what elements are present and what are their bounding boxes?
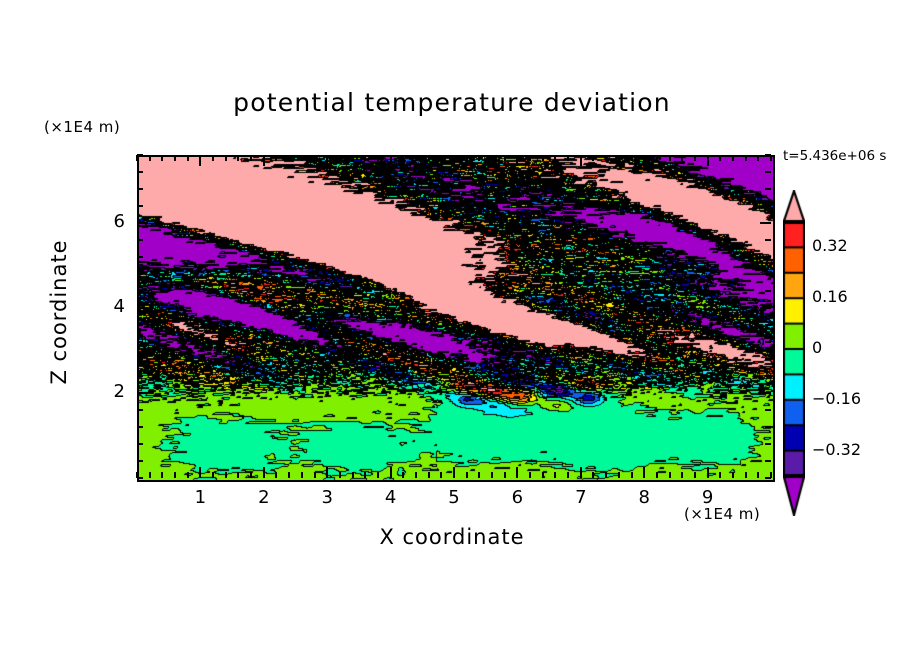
y-minor-tick-right [765, 290, 771, 292]
x-minor-tick-top [631, 155, 633, 161]
x-minor-tick [605, 472, 607, 478]
x-minor-tick [732, 472, 734, 478]
x-minor-tick-top [314, 155, 316, 161]
x-major-tick-top [643, 155, 645, 166]
contour-plot-area [137, 155, 775, 482]
y-minor-tick [137, 188, 143, 190]
x-minor-tick [618, 472, 620, 478]
x-minor-tick-top [237, 155, 239, 161]
x-minor-tick-top [592, 155, 594, 161]
x-minor-tick [592, 472, 594, 478]
x-minor-tick [402, 472, 404, 478]
x-minor-tick-top [352, 155, 354, 161]
x-minor-tick-top [161, 155, 163, 161]
x-minor-tick-top [656, 155, 658, 161]
y-tick-label: 4 [85, 296, 125, 317]
y-minor-tick-right [765, 375, 771, 377]
y-minor-tick [137, 460, 143, 462]
x-minor-tick [250, 472, 252, 478]
x-minor-tick [478, 472, 480, 478]
x-minor-tick-top [745, 155, 747, 161]
x-minor-tick [377, 472, 379, 478]
x-minor-tick-top [542, 155, 544, 161]
x-minor-tick [491, 472, 493, 478]
x-minor-tick-top [402, 155, 404, 161]
x-major-tick-top [199, 155, 201, 166]
x-minor-tick [694, 472, 696, 478]
colorbar-tick-label: −0.16 [812, 389, 861, 408]
y-minor-tick [137, 409, 143, 411]
y-minor-tick [137, 273, 143, 275]
y-minor-tick [137, 358, 143, 360]
x-tick-label: 9 [688, 487, 728, 508]
x-minor-tick-top [377, 155, 379, 161]
x-major-tick [390, 467, 392, 478]
x-minor-tick-top [187, 155, 189, 161]
x-minor-tick-top [250, 155, 252, 161]
y-minor-tick-right [765, 171, 771, 173]
y-minor-tick [137, 154, 143, 156]
y-minor-tick-right [765, 239, 771, 241]
x-minor-tick [669, 472, 671, 478]
x-minor-tick [301, 472, 303, 478]
x-minor-tick [656, 472, 658, 478]
y-axis-label: Z coordinate [47, 232, 71, 392]
x-minor-tick [314, 472, 316, 478]
x-minor-tick [288, 472, 290, 478]
x-tick-label: 6 [497, 487, 537, 508]
x-minor-tick-top [732, 155, 734, 161]
x-minor-tick-top [669, 155, 671, 161]
x-minor-tick [225, 472, 227, 478]
y-minor-tick-right [765, 256, 771, 258]
x-minor-tick-top [567, 155, 569, 161]
x-minor-tick [466, 472, 468, 478]
x-major-tick [516, 467, 518, 478]
y-minor-tick [137, 426, 143, 428]
y-minor-tick [137, 341, 143, 343]
y-minor-tick-right [765, 324, 771, 326]
x-minor-tick-top [428, 155, 430, 161]
y-major-tick [137, 392, 148, 394]
y-major-tick [137, 307, 148, 309]
x-major-tick [453, 467, 455, 478]
colorbar-under-arrow [783, 476, 805, 516]
x-minor-tick [745, 472, 747, 478]
x-major-tick [326, 467, 328, 478]
x-minor-tick-top [466, 155, 468, 161]
y-minor-tick-right [765, 273, 771, 275]
x-minor-tick [719, 472, 721, 478]
y-minor-tick [137, 477, 143, 479]
x-minor-tick-top [757, 155, 759, 161]
y-minor-tick [137, 324, 143, 326]
x-minor-tick [149, 472, 151, 478]
x-minor-tick-top [440, 155, 442, 161]
x-major-tick-top [453, 155, 455, 166]
x-minor-tick [757, 472, 759, 478]
x-minor-tick-top [225, 155, 227, 161]
x-tick-label: 8 [624, 487, 664, 508]
y-minor-tick [137, 171, 143, 173]
y-minor-tick [137, 290, 143, 292]
x-major-tick-top [707, 155, 709, 166]
x-minor-tick-top [288, 155, 290, 161]
x-minor-tick [428, 472, 430, 478]
x-major-tick-top [516, 155, 518, 166]
x-major-tick-top [263, 155, 265, 166]
x-minor-tick [339, 472, 341, 478]
x-minor-tick-top [301, 155, 303, 161]
x-minor-tick [275, 472, 277, 478]
x-tick-label: 1 [180, 487, 220, 508]
x-minor-tick [567, 472, 569, 478]
x-major-tick-top [580, 155, 582, 166]
x-minor-tick-top [491, 155, 493, 161]
y-minor-tick [137, 239, 143, 241]
x-major-tick [643, 467, 645, 478]
colorbar-over-arrow [783, 190, 805, 222]
x-minor-tick [187, 472, 189, 478]
x-minor-tick-top [694, 155, 696, 161]
x-tick-label: 7 [561, 487, 601, 508]
y-major-tick [137, 222, 148, 224]
x-minor-tick [212, 472, 214, 478]
y-minor-tick-right [765, 154, 771, 156]
y-tick-label: 2 [85, 381, 125, 402]
x-minor-tick-top [339, 155, 341, 161]
y-minor-tick-right [765, 188, 771, 190]
x-major-tick [580, 467, 582, 478]
x-minor-tick-top [212, 155, 214, 161]
x-minor-tick-top [415, 155, 417, 161]
x-minor-tick [237, 472, 239, 478]
x-minor-tick-top [478, 155, 480, 161]
y-minor-tick-right [765, 205, 771, 207]
y-minor-tick-right [765, 341, 771, 343]
x-minor-tick [352, 472, 354, 478]
x-minor-tick-top [719, 155, 721, 161]
x-minor-tick-top [364, 155, 366, 161]
page-title: potential temperature deviation [0, 88, 904, 117]
x-minor-tick-top [605, 155, 607, 161]
y-minor-tick-right [765, 443, 771, 445]
colorbar-tick-label: −0.32 [812, 440, 861, 459]
y-major-tick-right [760, 222, 771, 224]
z-axis-unit-label: (×1E4 m) [44, 118, 120, 136]
x-minor-tick [174, 472, 176, 478]
x-minor-tick-top [681, 155, 683, 161]
x-minor-tick [681, 472, 683, 478]
x-tick-label: 2 [244, 487, 284, 508]
x-minor-tick-top [554, 155, 556, 161]
y-minor-tick [137, 443, 143, 445]
x-minor-tick [161, 472, 163, 478]
colorbar-tick-label: 0.32 [812, 236, 848, 255]
x-major-tick-top [390, 155, 392, 166]
y-minor-tick [137, 375, 143, 377]
x-minor-tick [415, 472, 417, 478]
x-minor-tick-top [174, 155, 176, 161]
y-minor-tick-right [765, 460, 771, 462]
y-minor-tick [137, 205, 143, 207]
y-tick-label: 6 [85, 211, 125, 232]
x-minor-tick-top [618, 155, 620, 161]
x-minor-tick-top [504, 155, 506, 161]
colorbar-tick-label: 0.16 [812, 287, 848, 306]
figure-canvas: potential temperature deviation (×1E4 m)… [0, 0, 904, 654]
x-minor-tick [542, 472, 544, 478]
x-minor-tick [440, 472, 442, 478]
y-minor-tick-right [765, 477, 771, 479]
y-minor-tick-right [765, 426, 771, 428]
x-tick-label: 3 [307, 487, 347, 508]
x-major-tick [199, 467, 201, 478]
y-minor-tick-right [765, 409, 771, 411]
x-major-tick-top [326, 155, 328, 166]
x-minor-tick [631, 472, 633, 478]
colorbar-tick-label: 0 [812, 338, 822, 357]
x-major-tick [263, 467, 265, 478]
colorbar-body [783, 222, 805, 476]
y-minor-tick-right [765, 358, 771, 360]
x-minor-tick-top [529, 155, 531, 161]
x-major-tick [707, 467, 709, 478]
timestamp-label: t=5.436e+06 s [783, 148, 886, 164]
y-minor-tick [137, 256, 143, 258]
contour-field [139, 157, 773, 480]
y-major-tick-right [760, 392, 771, 394]
x-tick-label: 4 [371, 487, 411, 508]
x-axis-label: X coordinate [0, 525, 904, 549]
y-major-tick-right [760, 307, 771, 309]
x-minor-tick-top [149, 155, 151, 161]
x-minor-tick [529, 472, 531, 478]
x-minor-tick [364, 472, 366, 478]
x-tick-label: 5 [434, 487, 474, 508]
x-minor-tick [504, 472, 506, 478]
x-minor-tick [554, 472, 556, 478]
x-minor-tick-top [275, 155, 277, 161]
